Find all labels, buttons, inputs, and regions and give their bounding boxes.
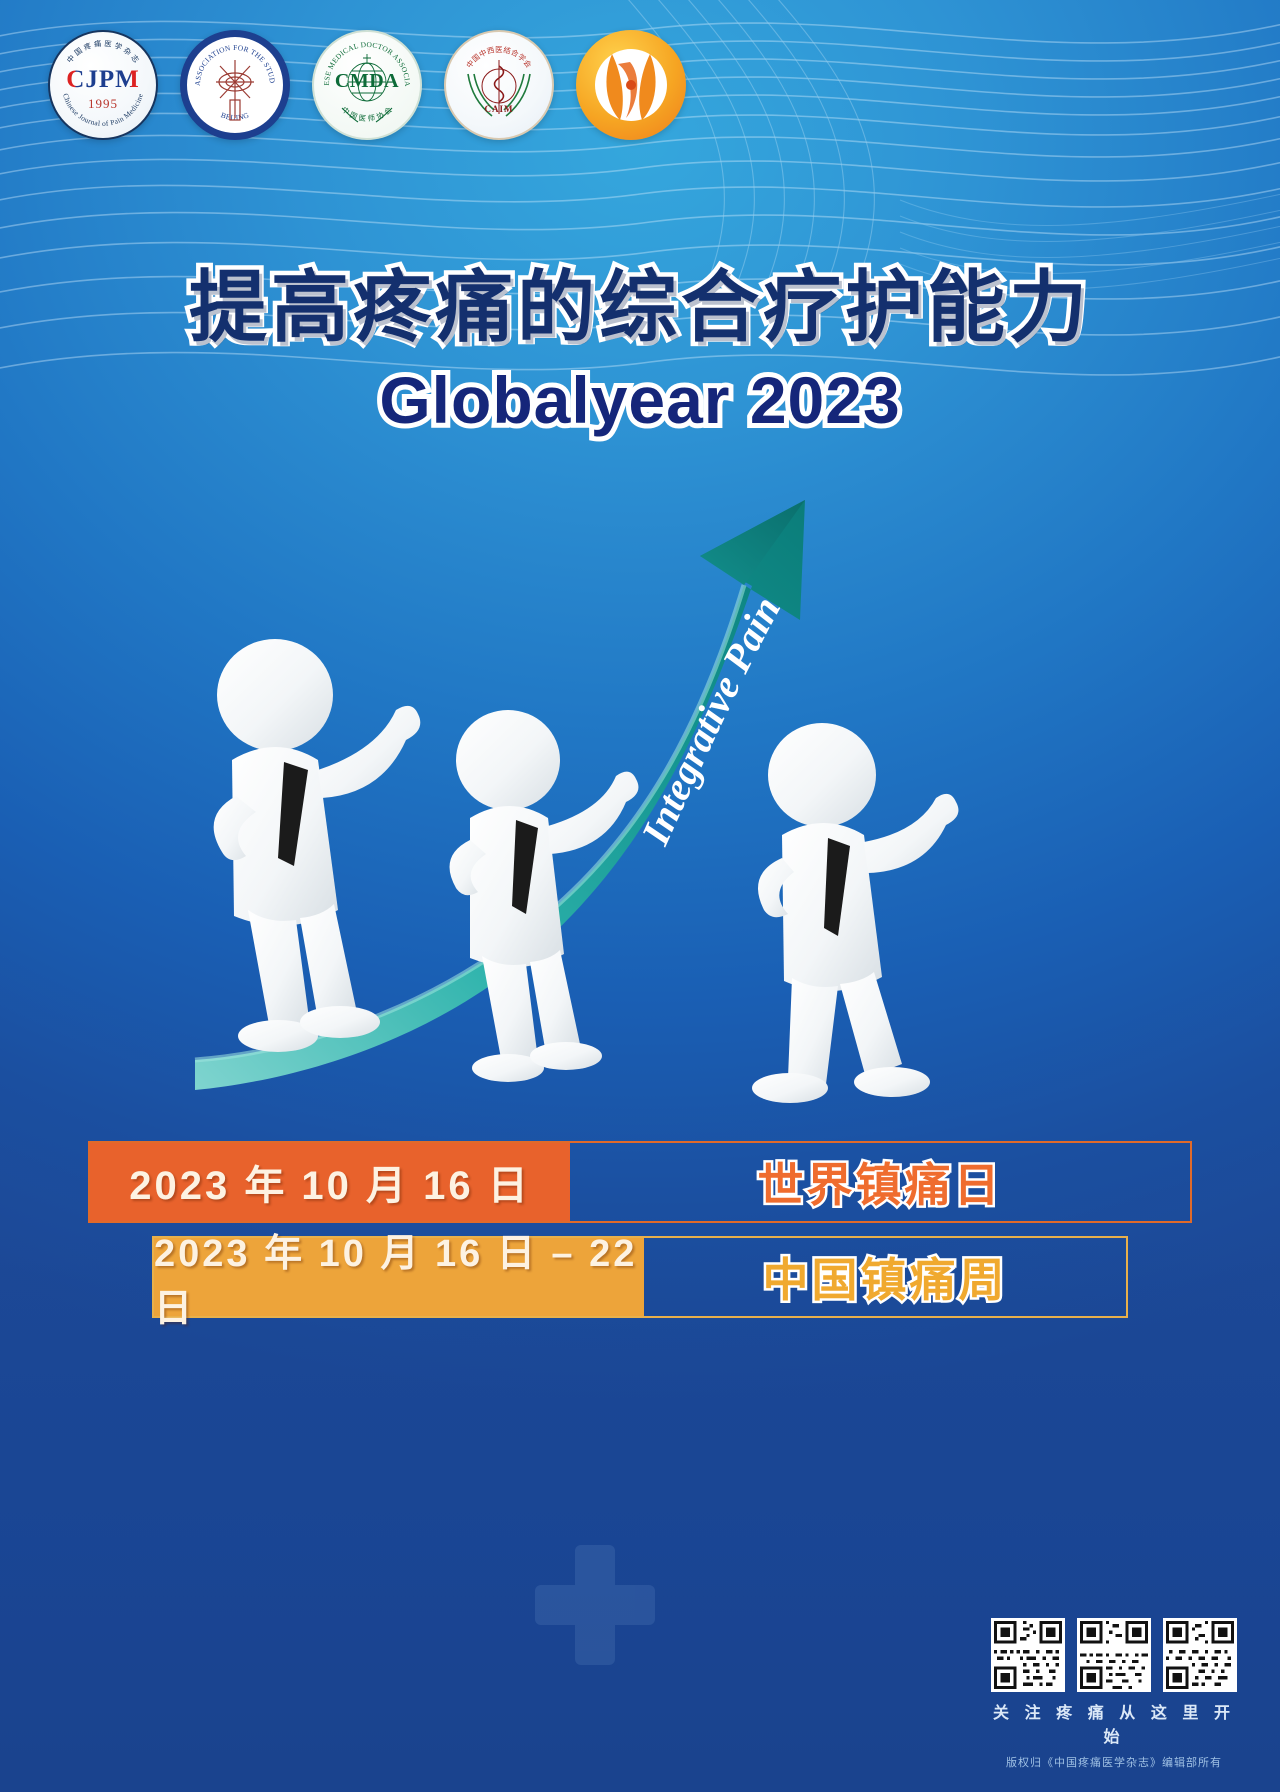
footer-qr-block: 关 注 疼 痛 从 这 里 开 始 版权归《中国疼痛医学杂志》编辑部所有 [986, 1618, 1242, 1770]
caim-abbreviation: CAIM [444, 104, 554, 114]
organization-logo-row: 中 国 疼 痛 医 学 杂 志 Chinese Journal of Pain … [48, 30, 686, 140]
arrow-label-text: Integrative Pain Care [0, 440, 794, 852]
cjpm-logo: 中 国 疼 痛 医 学 杂 志 Chinese Journal of Pain … [48, 30, 158, 140]
qr-code-1[interactable] [991, 1618, 1065, 1692]
qr-code-2[interactable] [1077, 1618, 1151, 1692]
svg-text:CHINESE ASSOCIATION FOR THE ST: CHINESE ASSOCIATION FOR THE STUDY OF PAI… [180, 30, 277, 86]
medical-cross-watermark [535, 1545, 655, 1665]
qr-code-row [986, 1618, 1242, 1692]
cmda-logo: CHINESE MEDICAL DOCTOR ASSOCIATION 中 国 医… [312, 30, 422, 140]
poster-canvas: 中 国 疼 痛 医 学 杂 志 Chinese Journal of Pain … [0, 0, 1280, 1792]
china-pain-week-banner: 2023 年 10 月 16 日 – 22 日 中国镇痛周 [152, 1236, 1128, 1318]
casp-logo-ring-text: CHINESE ASSOCIATION FOR THE STUDY OF PAI… [180, 30, 290, 140]
qr-code-3[interactable] [1163, 1618, 1237, 1692]
copyright-notice: 版权归《中国疼痛医学杂志》编辑部所有 [986, 1754, 1242, 1770]
svg-text:中 国 疼 痛 医 学 杂 志: 中 国 疼 痛 医 学 杂 志 [65, 39, 141, 65]
date-banner-group: 2023 年 10 月 16 日 世界镇痛日 2023 年 10 月 16 日 … [0, 1141, 1280, 1331]
poster-title-chinese: 提高疼痛的综合疗护能力 [0, 245, 1280, 357]
caim-logo-ring-text: 中国中西医结合学会 [444, 30, 554, 140]
china-pain-week-date: 2023 年 10 月 16 日 – 22 日 [154, 1238, 644, 1316]
world-pain-day-date: 2023 年 10 月 16 日 [90, 1143, 570, 1221]
world-pain-day-banner: 2023 年 10 月 16 日 世界镇痛日 [88, 1141, 1192, 1223]
caim-logo: 中国中西医结合学会 CAIM [444, 30, 554, 140]
figure-center [450, 710, 639, 1082]
figure-left [214, 639, 421, 1052]
journal-emblem-logo [576, 30, 686, 140]
cjpm-abbreviation: CJPM [48, 66, 158, 94]
qr-caption: 关 注 疼 痛 从 这 里 开 始 [986, 1699, 1242, 1747]
cjpm-year: 1995 [48, 96, 158, 112]
china-pain-week-label: 中国镇痛周 [644, 1238, 1126, 1316]
world-pain-day-label: 世界镇痛日 [570, 1143, 1190, 1221]
journal-emblem-mark [576, 30, 686, 140]
cmda-abbreviation: CMDA [312, 70, 422, 93]
casp-logo: CHINESE ASSOCIATION FOR THE STUDY OF PAI… [180, 30, 290, 140]
illustration-area: Integrative Pain Care [0, 440, 1280, 1130]
poster-title-english: Globalyear 2023 [0, 362, 1280, 438]
figure-right [752, 723, 958, 1103]
